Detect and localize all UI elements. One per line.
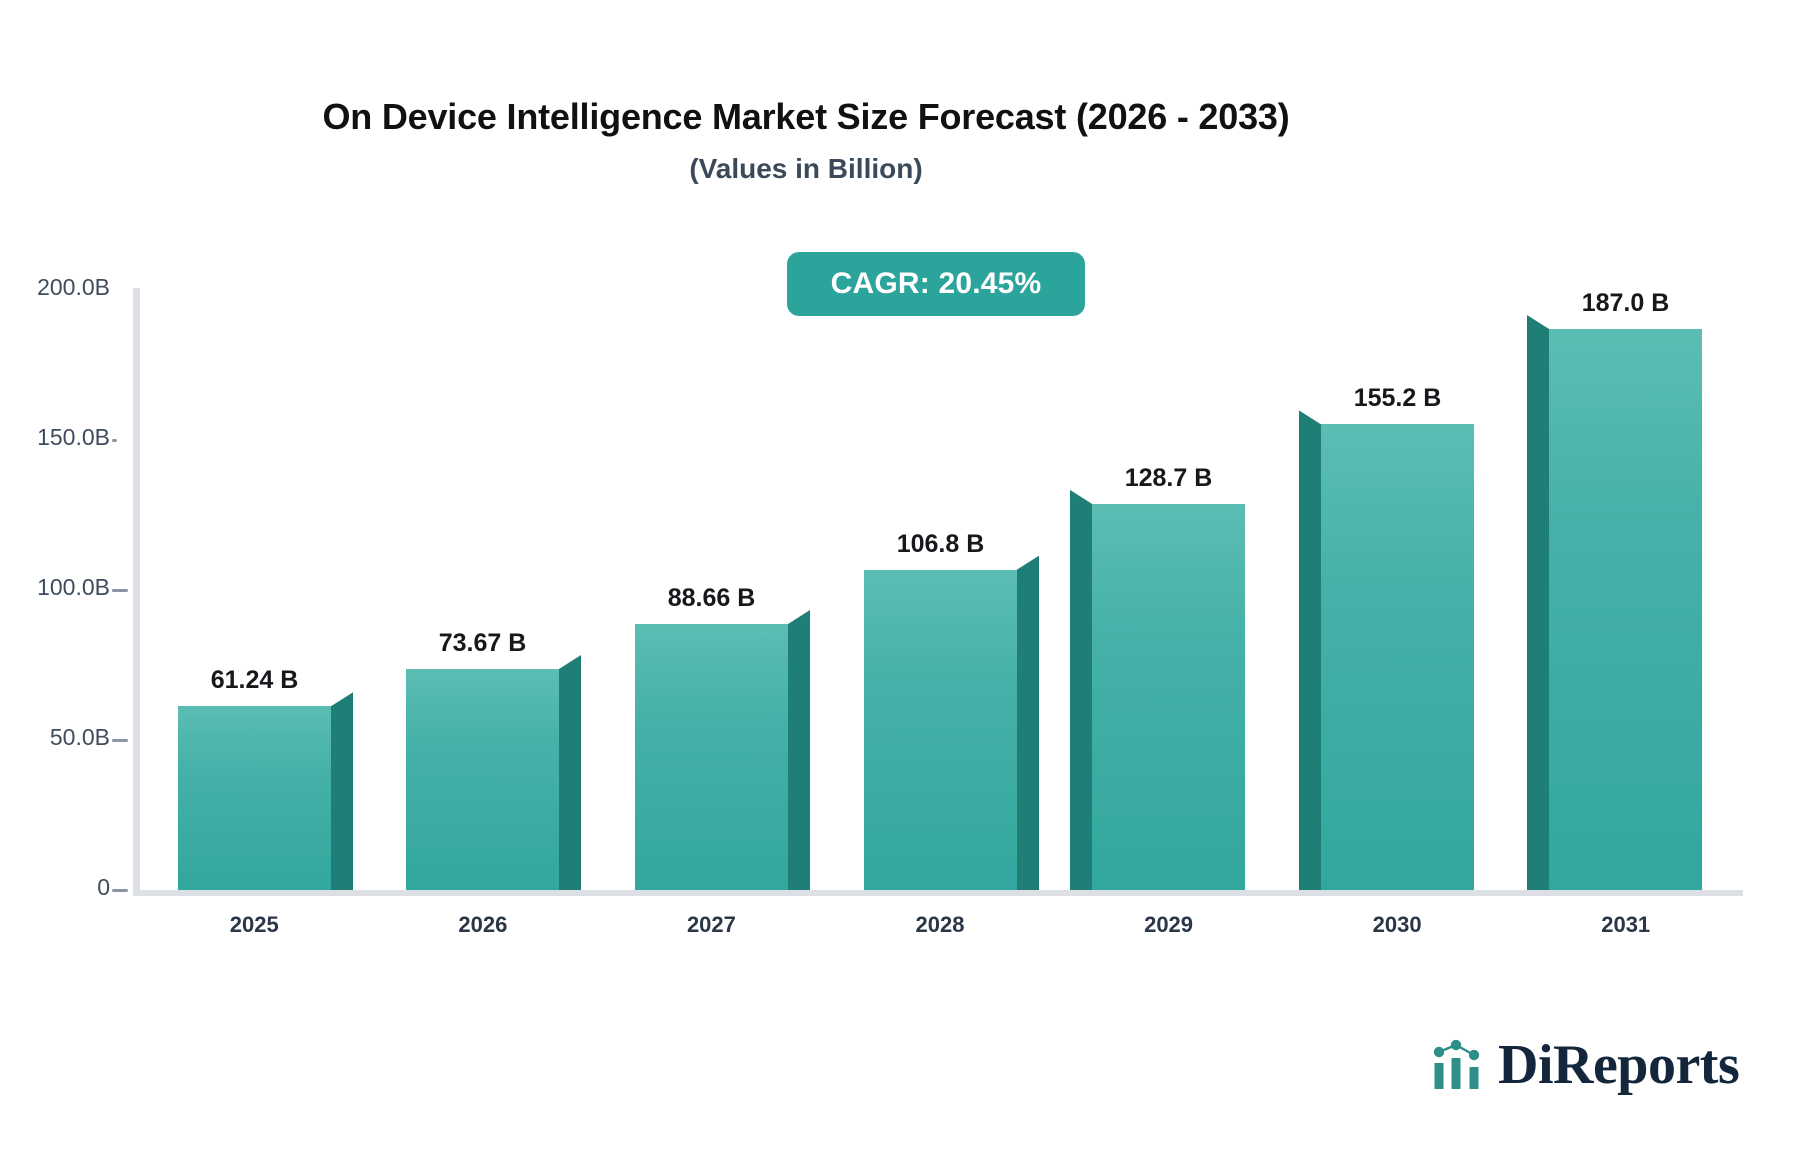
bar-side-panel — [1017, 556, 1039, 890]
y-tick-label: 100.0B — [37, 574, 110, 601]
x-tick-label: 2030 — [1337, 912, 1457, 938]
bar-2028[interactable]: 106.8 B — [864, 570, 1017, 890]
y-tick-label: 200.0B — [37, 274, 110, 301]
y-tick-mark — [112, 439, 117, 442]
y-tick-mark — [112, 739, 128, 742]
bar-side-panel — [559, 655, 581, 890]
bar-value-label: 106.8 B — [897, 530, 985, 559]
bar-side-panel — [1299, 410, 1321, 890]
bar-value-label: 187.0 B — [1582, 289, 1670, 318]
bar-chart-dots-icon — [1432, 1039, 1492, 1091]
bar-2027[interactable]: 88.66 B — [635, 624, 788, 890]
bar-side-panel — [331, 692, 353, 890]
x-tick-label: 2027 — [651, 912, 771, 938]
bar-side-panel — [1527, 315, 1549, 890]
bar-2026[interactable]: 73.67 B — [406, 669, 559, 890]
bar-face — [635, 624, 788, 890]
x-tick-label: 2029 — [1109, 912, 1229, 938]
plot-area: 050.0B100.0B150.0B200.0B 61.24 B73.67 B8… — [0, 0, 1800, 1156]
bar-value-label: 61.24 B — [211, 666, 299, 695]
y-tick-label: 50.0B — [50, 724, 110, 751]
bar-2025[interactable]: 61.24 B — [178, 706, 331, 890]
bar-face — [864, 570, 1017, 890]
y-tick-label: 150.0B — [37, 424, 110, 451]
y-tick-mark — [112, 589, 128, 592]
y-axis-line — [133, 288, 140, 894]
x-tick-label: 2025 — [194, 912, 314, 938]
chart-canvas: On Device Intelligence Market Size Forec… — [0, 0, 1800, 1156]
x-tick-label: 2028 — [880, 912, 1000, 938]
bar-face — [1092, 504, 1245, 890]
bar-2031[interactable]: 187.0 B — [1549, 329, 1702, 890]
bar-value-label: 73.67 B — [439, 629, 527, 658]
bar-face — [1549, 329, 1702, 890]
y-tick-mark — [112, 889, 128, 892]
bar-value-label: 88.66 B — [668, 584, 756, 613]
x-tick-label: 2031 — [1566, 912, 1686, 938]
x-axis-line — [133, 890, 1743, 896]
bar-2029[interactable]: 128.7 B — [1092, 504, 1245, 890]
bar-value-label: 155.2 B — [1354, 384, 1442, 413]
bar-face — [1321, 424, 1474, 890]
direports-logo: DiReports — [1432, 1032, 1739, 1098]
bar-face — [406, 669, 559, 890]
x-tick-label: 2026 — [423, 912, 543, 938]
bar-value-label: 128.7 B — [1125, 464, 1213, 493]
bar-2030[interactable]: 155.2 B — [1321, 424, 1474, 890]
y-tick-label: 0 — [97, 874, 110, 901]
bar-face — [178, 706, 331, 890]
logo-wordmark: DiReports — [1498, 1037, 1739, 1093]
bar-side-panel — [788, 610, 810, 890]
bar-side-panel — [1070, 490, 1092, 890]
